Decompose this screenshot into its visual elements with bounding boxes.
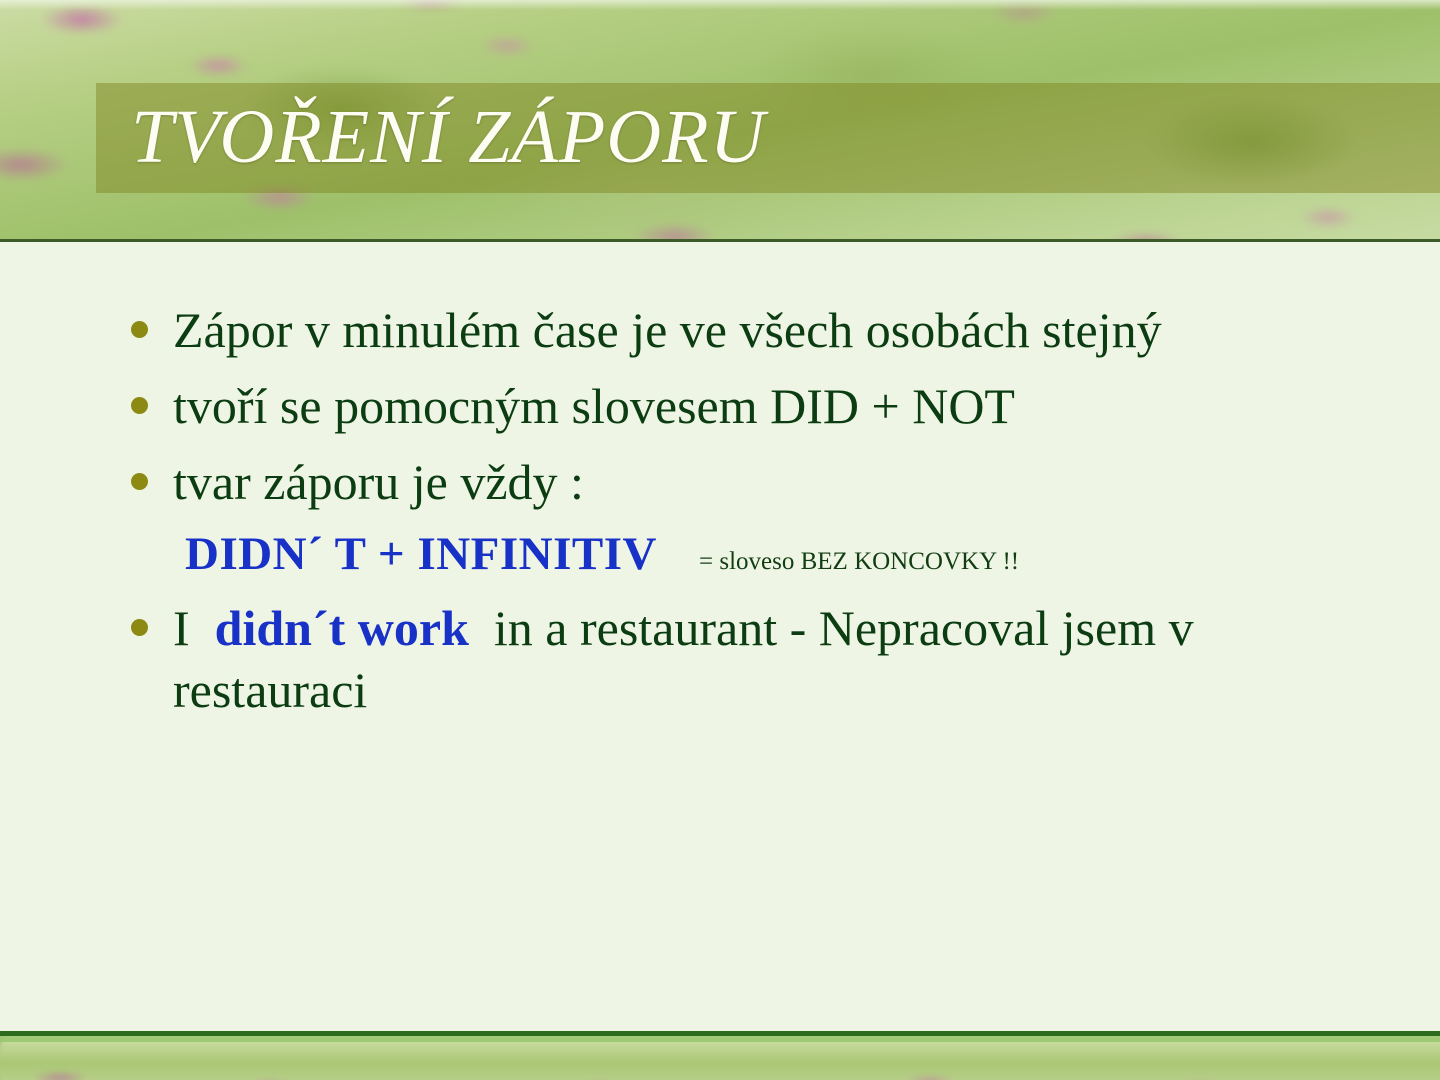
formula-annotation: = sloveso BEZ KONCOVKY !! [699, 548, 1019, 576]
bullet-list: Zápor v minulém čase je ve všech osobách… [131, 299, 1371, 735]
example-tail: in a restaurant - [494, 600, 806, 656]
bullet-item-3-text: tvar záporu je vždy : [173, 451, 1371, 513]
list-item: tvoří se pomocným slovesem DID + NOT [131, 375, 1371, 437]
slide-header: TVOŘENÍ ZÁPORU [0, 0, 1440, 241]
footer-divider [0, 1031, 1440, 1036]
bullet-item-2-text: tvoří se pomocným slovesem DID + NOT [173, 375, 1371, 437]
list-item: tvar záporu je vždy : [131, 451, 1371, 513]
footer-highlight-band [0, 1036, 1440, 1042]
example-sentence: I didn´t work in a restaurant - Nepracov… [173, 597, 1371, 721]
bullet-item-1-text: Zápor v minulém čase je ve všech osobách… [173, 299, 1371, 361]
formula-line: DIDN´ T + INFINITIV = sloveso BEZ KONCOV… [185, 527, 1371, 581]
presentation-slide: TVOŘENÍ ZÁPORU Zápor v minulém čase je v… [0, 0, 1440, 1080]
list-item: Zápor v minulém čase je ve všech osobách… [131, 299, 1371, 361]
bullet-dot-icon [131, 397, 148, 414]
list-item: I didn´t work in a restaurant - Nepracov… [131, 597, 1371, 721]
example-highlight: didn´t work [215, 600, 469, 656]
bullet-dot-icon [131, 619, 148, 636]
formula-expression: DIDN´ T + INFINITIV [185, 527, 657, 581]
bullet-dot-icon [131, 321, 148, 338]
slide-body: Zápor v minulém čase je ve všech osobách… [0, 242, 1440, 1031]
header-top-fade [0, 0, 1440, 10]
page-title: TVOŘENÍ ZÁPORU [131, 82, 1411, 192]
slide-footer [0, 1031, 1440, 1080]
footer-foliage-photo [0, 1036, 1440, 1080]
bullet-dot-icon [131, 473, 148, 490]
example-lead: I [173, 600, 190, 656]
